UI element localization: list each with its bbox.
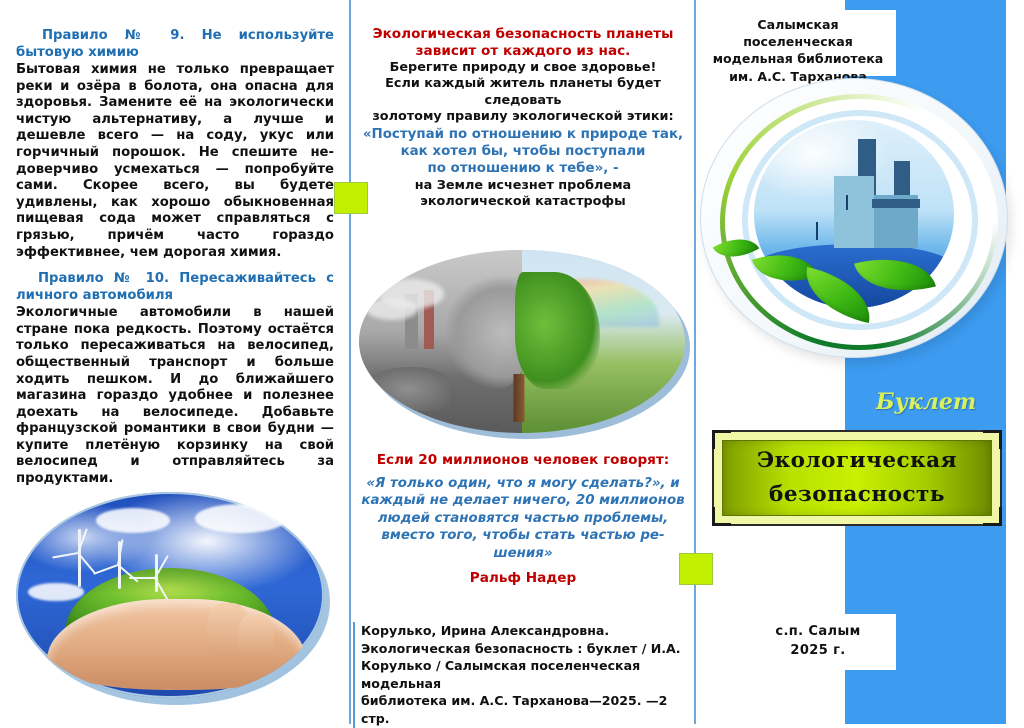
citation-line-1: Корулько, Ирина Александровна. — [361, 622, 697, 640]
rule-10-heading: Правило № 10. Пересаживайтесь с личного … — [16, 271, 334, 304]
rule-9-text: Бытовая химия не только превращает реки … — [16, 62, 334, 261]
green-accent-square — [679, 553, 713, 585]
split-tree-image — [359, 250, 685, 433]
left-panel: Правило № 9. Не используйте бытовую хими… — [0, 0, 349, 724]
headline-red-2: зависит от каждого из нас. — [355, 43, 691, 60]
middle-text-block: Экологическая безопасность планеты завис… — [355, 26, 691, 211]
black-line-2: Если каждый житель планеты будет следова… — [355, 76, 691, 109]
corner-bracket — [983, 430, 1002, 449]
title-inner: Экологическая безопасность — [722, 440, 992, 516]
corner-bracket — [983, 507, 1002, 526]
person-figure — [846, 195, 848, 210]
black-line-1: Берегите природу и свое здоровье! — [355, 60, 691, 76]
tree-trunk — [513, 374, 524, 422]
headline-red-1: Экологическая безопасность планеты — [355, 26, 691, 43]
fold-divider-right — [694, 0, 696, 724]
left-text-block: Правило № 9. Не используйте бытовую хими… — [16, 28, 334, 488]
golden-rule-line-1: «Поступай по отношению к природе так, — [355, 126, 691, 143]
citation-block: Корулько, Ирина Александровна. Экологиче… — [353, 622, 697, 728]
golden-rule-line-3: по отношению к тебе», - — [355, 160, 691, 177]
green-accent-square — [334, 182, 368, 214]
citation-line-3: Корулько / Салымская поселенческая модел… — [361, 657, 697, 692]
black-line-5: экологической катастрофы — [355, 194, 691, 210]
black-line-3: золотому правилу экологической этики: — [355, 109, 691, 125]
title-line-2: безопасность — [723, 478, 991, 512]
year: 2025 г. — [742, 641, 894, 660]
fold-divider-left — [349, 0, 351, 724]
brochure-page: Правило № 9. Не используйте бытовую хими… — [0, 0, 1024, 724]
person-figure — [816, 222, 818, 241]
place-name: с.п. Салым — [742, 622, 894, 641]
factory-tower — [834, 176, 874, 247]
quote-author: Ральф Надер — [355, 570, 691, 587]
image-oval — [359, 250, 685, 433]
wind-turbine-icon — [118, 541, 121, 589]
corner-bracket — [712, 507, 731, 526]
place-year: с.п. Салым 2025 г. — [742, 622, 894, 660]
trash-pile-shape — [366, 367, 451, 411]
wind-turbine-icon — [155, 554, 158, 592]
rule-9-heading: Правило № 9. Не используйте бытовую хими… — [16, 28, 334, 61]
title-line-1: Экологическая — [723, 444, 991, 478]
title-box: Экологическая безопасность — [712, 430, 1002, 526]
library-line-2: модельная библиотека — [702, 50, 894, 67]
booklet-label: Буклет — [846, 389, 1006, 415]
cloud-shape — [195, 504, 287, 533]
cloud-shape — [96, 508, 170, 533]
quote-block: Если 20 миллионов человек говорят: «Я то… — [355, 452, 691, 587]
rule-10-text: Экологичные автомобили в нашей стране по… — [16, 305, 334, 488]
hand-holding-earth-image — [16, 492, 324, 698]
corner-bracket — [712, 430, 731, 449]
quote-line-5: шения» — [355, 545, 691, 562]
quote-line-4: вместо того, чтобы стать частью ре- — [355, 527, 691, 544]
right-panel: Салымская поселенческая модельная библио… — [696, 0, 1024, 724]
smoke-shape — [366, 298, 418, 320]
quote-line-2: каждый не делает ничего, 20 миллионов — [355, 492, 691, 509]
middle-panel: Экологическая безопасность планеты завис… — [351, 0, 694, 724]
quote-line-1: «Я только один, что я могу сделать?», и — [355, 475, 691, 492]
citation-line-2: Экологическая безопасность : буклет / И.… — [361, 640, 697, 658]
citation-line-4: библиотека им. А.С. Тарханова—2025. —2 с… — [361, 692, 697, 727]
eco-logo-image — [698, 68, 1018, 368]
library-line-1: Салымская поселенческая — [702, 16, 894, 50]
wind-turbine-icon — [78, 529, 81, 587]
quote-intro: Если 20 миллионов человек говорят: — [355, 452, 691, 469]
golden-rule-line-2: как хотел бы, чтобы поступали — [355, 143, 691, 160]
factory-beam — [872, 199, 920, 208]
black-line-4: на Земле исчезнет проблема — [355, 178, 691, 194]
image-oval — [16, 492, 324, 698]
quote-line-3: людей становятся частью проблемы, — [355, 510, 691, 527]
